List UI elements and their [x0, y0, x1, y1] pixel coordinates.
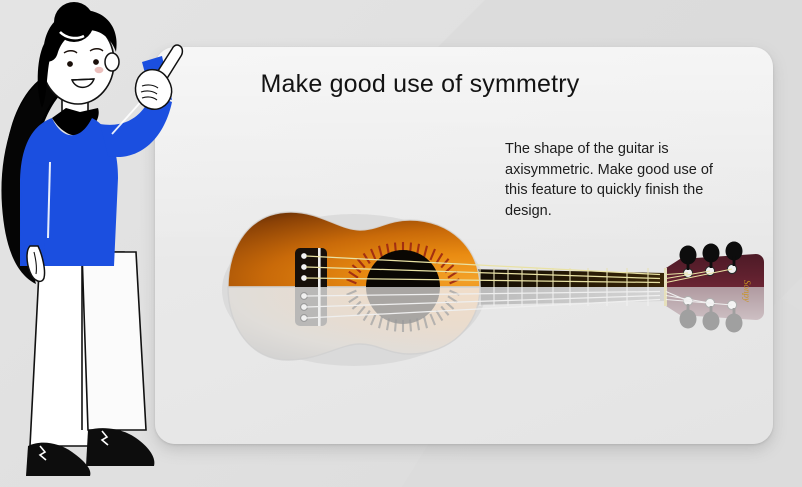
headstock-brand-logo: Sonpy	[742, 280, 752, 302]
guitar-headstock: Sonpy	[664, 242, 764, 333]
eye-left-icon	[67, 61, 73, 67]
guitar-bridge	[295, 248, 327, 326]
slide-canvas: Sonpy	[0, 0, 802, 487]
pointing-hand-icon	[136, 45, 183, 109]
guitar-neck	[464, 266, 666, 308]
tuning-pegs-top	[680, 242, 743, 278]
eye-right-icon	[93, 59, 99, 65]
page-title: Make good use of symmetry	[185, 70, 655, 99]
character-illustration	[0, 0, 186, 487]
body-paragraph: The shape of the guitar is axisymmetric.…	[505, 139, 733, 221]
